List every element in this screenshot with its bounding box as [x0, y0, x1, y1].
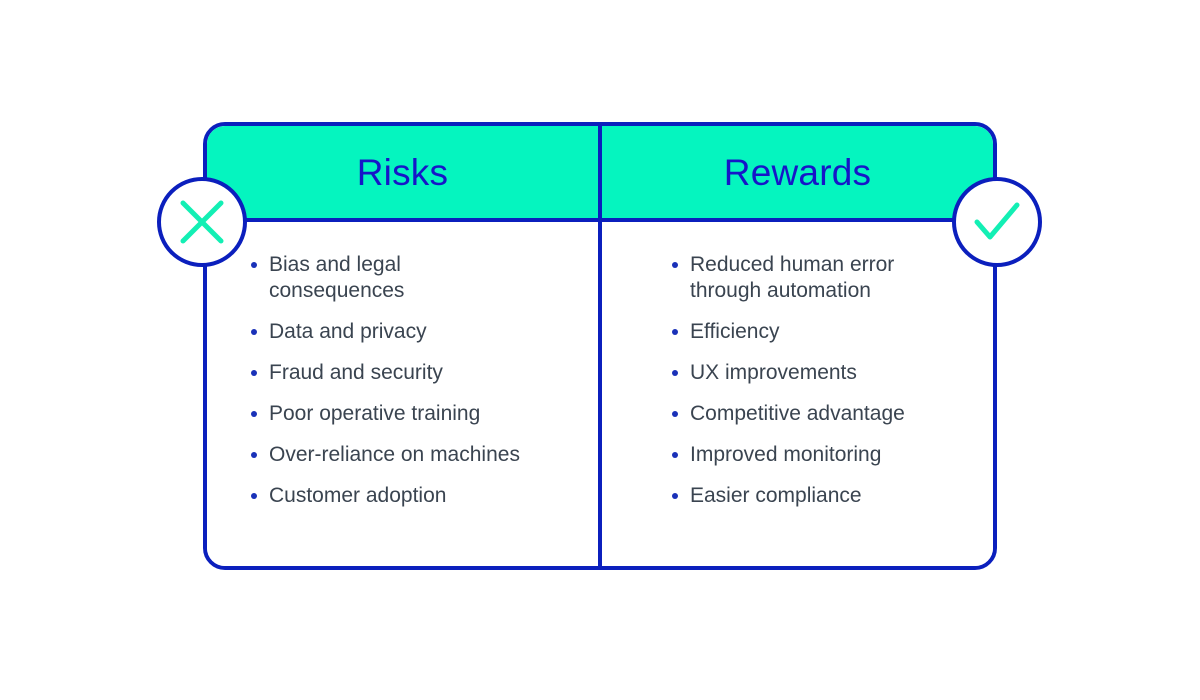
rewards-list: Reduced human error through automation E… — [672, 252, 973, 509]
list-item: Bias and legal consequences — [251, 252, 529, 304]
column-rewards-header: Rewards — [602, 126, 993, 222]
list-item-label: Competitive advantage — [690, 402, 905, 425]
column-risks-header: Risks — [207, 126, 598, 222]
risks-badge — [157, 177, 247, 267]
list-item-label: Bias and legal consequences — [269, 253, 404, 302]
check-mark-icon — [969, 194, 1025, 250]
bullet-dot-icon — [251, 329, 257, 335]
bullet-dot-icon — [672, 493, 678, 499]
diagram-canvas: Risks Bias and legal consequences Data a… — [0, 0, 1200, 700]
column-rewards-title: Rewards — [724, 154, 871, 191]
bullet-dot-icon — [672, 411, 678, 417]
column-risks: Risks Bias and legal consequences Data a… — [207, 126, 600, 566]
list-item-label: Improved monitoring — [690, 443, 881, 466]
list-item: Reduced human error through automation — [672, 252, 950, 304]
risks-rewards-card: Risks Bias and legal consequences Data a… — [203, 122, 997, 570]
risks-list: Bias and legal consequences Data and pri… — [251, 252, 572, 509]
list-item: Efficiency — [672, 319, 950, 345]
list-item: UX improvements — [672, 360, 950, 386]
list-item-label: Easier compliance — [690, 484, 862, 507]
column-risks-body: Bias and legal consequences Data and pri… — [207, 222, 598, 566]
bullet-dot-icon — [672, 370, 678, 376]
column-risks-title: Risks — [357, 154, 448, 191]
list-item-label: Poor operative training — [269, 402, 480, 425]
list-item-label: Data and privacy — [269, 320, 427, 343]
list-item-label: Fraud and security — [269, 361, 443, 384]
bullet-dot-icon — [672, 452, 678, 458]
list-item: Poor operative training — [251, 401, 529, 427]
bullet-dot-icon — [251, 411, 257, 417]
list-item: Easier compliance — [672, 483, 950, 509]
bullet-dot-icon — [251, 262, 257, 268]
list-item-label: Customer adoption — [269, 484, 446, 507]
bullet-dot-icon — [672, 329, 678, 335]
column-rewards: Rewards Reduced human error through auto… — [600, 126, 993, 566]
list-item-label: Reduced human error through automation — [690, 253, 894, 302]
list-item: Customer adoption — [251, 483, 529, 509]
list-item-label: Efficiency — [690, 320, 780, 343]
bullet-dot-icon — [672, 262, 678, 268]
bullet-dot-icon — [251, 493, 257, 499]
list-item: Competitive advantage — [672, 401, 950, 427]
list-item: Data and privacy — [251, 319, 529, 345]
bullet-dot-icon — [251, 452, 257, 458]
list-item: Over-reliance on machines — [251, 442, 529, 468]
column-rewards-body: Reduced human error through automation E… — [602, 222, 993, 566]
list-item-label: Over-reliance on machines — [269, 443, 520, 466]
bullet-dot-icon — [251, 370, 257, 376]
list-item-label: UX improvements — [690, 361, 857, 384]
list-item: Fraud and security — [251, 360, 529, 386]
rewards-badge — [952, 177, 1042, 267]
x-mark-icon — [175, 195, 229, 249]
list-item: Improved monitoring — [672, 442, 950, 468]
